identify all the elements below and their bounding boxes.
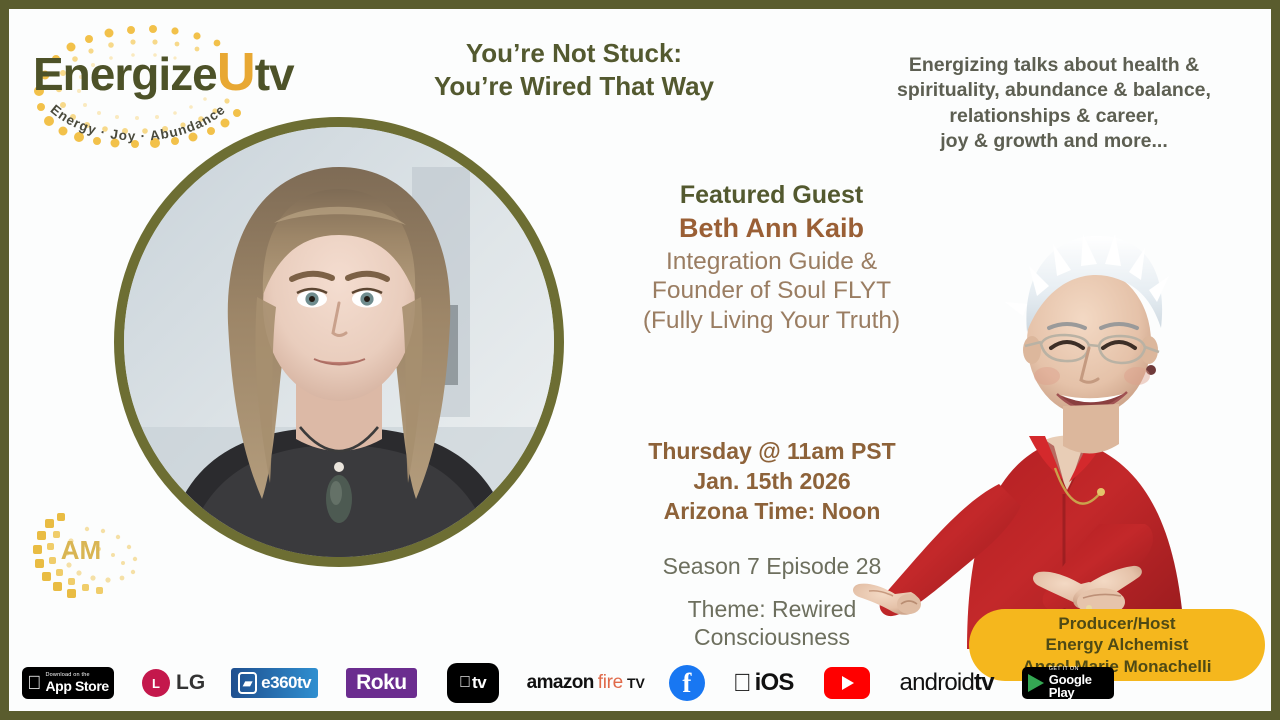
firetv-label: TV [627,675,645,691]
poster-canvas: EnergizeUtv Energy · Joy · Abundance You… [9,9,1271,711]
badge-roku[interactable]: Roku [346,668,417,698]
badge-facebook[interactable]: f [669,665,705,701]
android-label: android [900,669,974,697]
show-title: You’re Not Stuck: You’re Wired That Way [339,37,809,104]
amazon-label: amazon [527,672,594,694]
featured-guest-label: Featured Guest [574,181,969,211]
google-play-label: Google Play [1049,673,1108,699]
show-title-line2: You’re Wired That Way [339,70,809,103]
apple-icon:  [27,674,41,693]
lg-circle-icon: L [142,669,170,697]
producer-line2: Energy Alchemist [1046,634,1189,655]
tagline-line1: Energizing talks about health & [839,53,1269,78]
apple-icon:  [733,669,752,698]
badge-google-play[interactable]: GET IT ON Google Play [1022,667,1114,699]
e360tv-mark-icon: ▰ [238,672,257,694]
tagline-line4: joy & growth and more... [839,129,1269,154]
tagline-line3: relationships & career, [839,104,1269,129]
badge-apple-tv[interactable]:  tv [447,663,499,703]
host-photo [849,224,1271,649]
logo-text-tv: tv [255,48,294,100]
fire-label: fire [598,672,623,694]
ios-label: iOS [755,669,794,697]
platform-badges:  Download on the App Store L LG ▰ e360t… [9,657,1271,709]
facebook-f-icon: f [682,668,691,699]
poster-frame: EnergizeUtv Energy · Joy · Abundance You… [0,0,1280,720]
apple-icon:  [459,674,471,692]
e360tv-label: e360tv [261,673,311,693]
badge-lg[interactable]: L LG [142,669,205,697]
androidtv-label: tv [974,669,994,697]
guest-portrait-image [124,127,554,557]
tagline-line2: spirituality, abundance & balance, [839,78,1269,103]
lg-label: LG [176,671,205,695]
badge-app-store[interactable]:  Download on the App Store [22,667,114,699]
badge-youtube[interactable] [824,667,870,699]
apple-tv-label: tv [472,673,486,693]
app-store-label: App Store [45,679,108,693]
show-title-line1: You’re Not Stuck: [339,37,809,70]
producer-line1: Producer/Host [1058,613,1175,634]
google-play-triangle-icon [1028,674,1044,692]
am-monogram-letters: AM [61,535,101,565]
show-tagline: Energizing talks about health & spiritua… [839,53,1269,154]
guest-photo [114,117,564,567]
badge-amazon-fire-tv[interactable]: amazon fire TV [527,672,645,694]
am-monogram-watermark: AM [23,501,153,606]
badge-e360tv[interactable]: ▰ e360tv [231,668,318,698]
badge-ios[interactable]:  iOS [733,669,794,698]
play-triangle-icon [842,676,854,690]
badge-android-tv[interactable]: androidtv [900,669,994,697]
roku-label: Roku [356,671,407,695]
